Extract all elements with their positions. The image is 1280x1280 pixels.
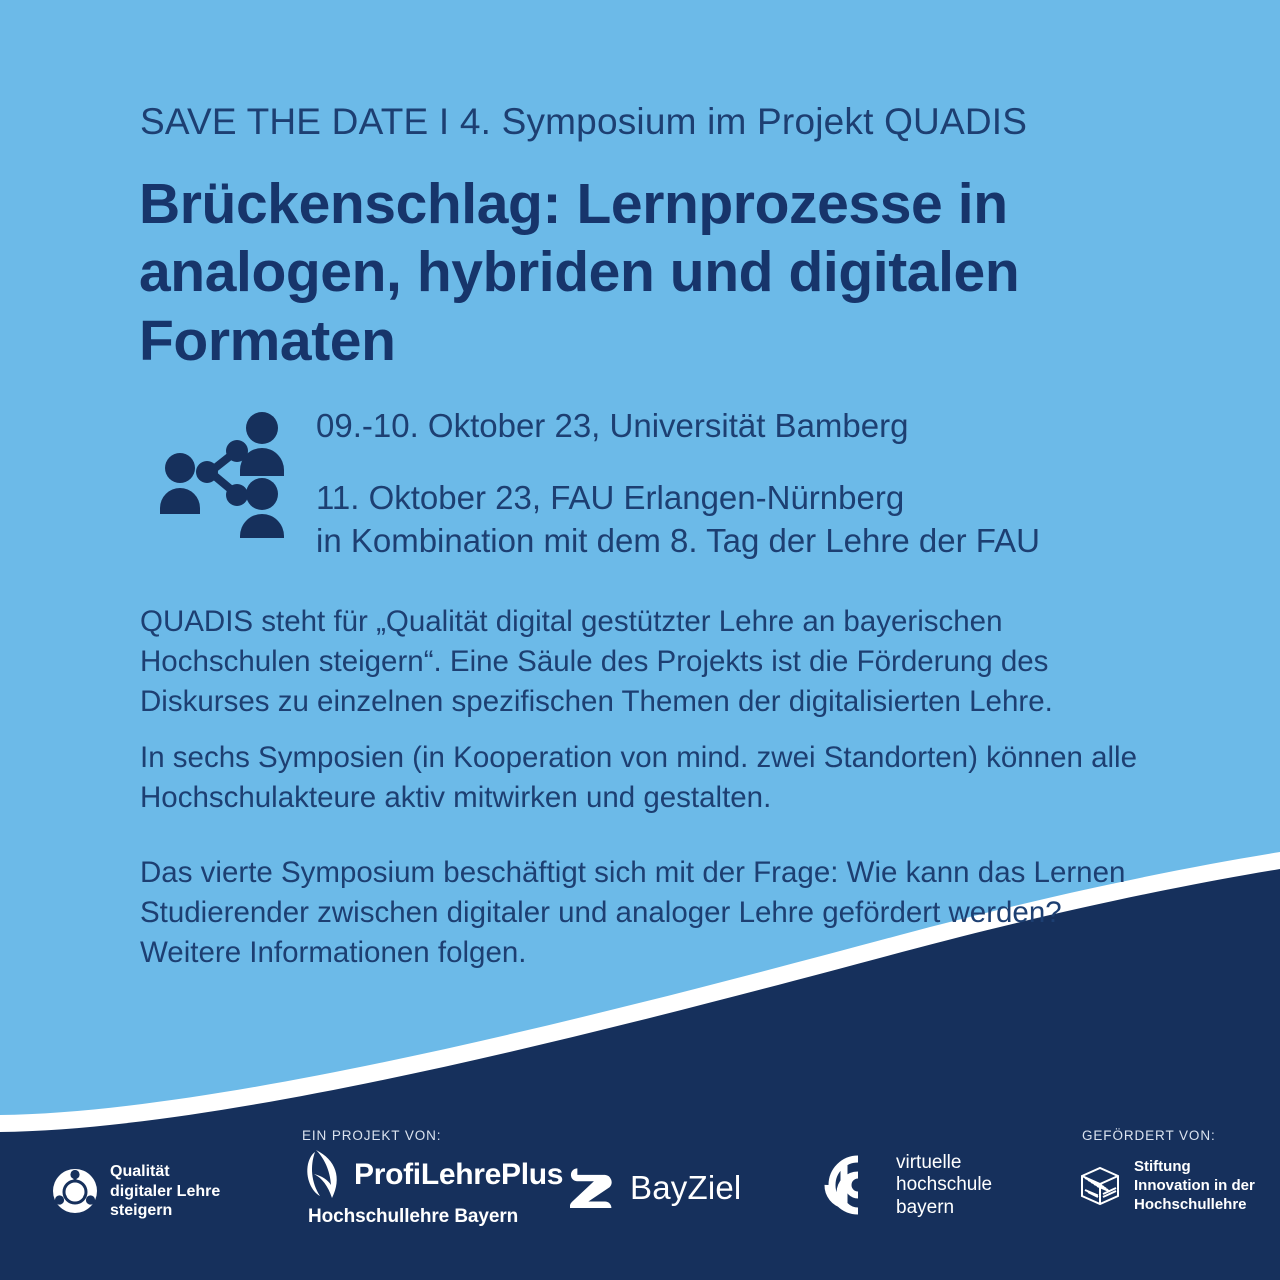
date-line-3: in Kombination mit dem 8. Tag der Lehre …	[316, 519, 1040, 563]
logo-vhb-text: virtuelle hochschule bayern	[896, 1152, 992, 1219]
logo-profilehreplus-row: ProfiLehrePlus	[302, 1148, 563, 1202]
logo-quadis-text: Qualität digitaler Lehre steigern	[110, 1162, 220, 1221]
poster-canvas: SAVE THE DATE I 4. Symposium im Projekt …	[0, 0, 1280, 1280]
logo-quadis-line-3: steigern	[110, 1201, 220, 1221]
logo-vhb-line-2: hochschule	[896, 1174, 992, 1196]
logo-vhb-line-1: virtuelle	[896, 1152, 992, 1174]
share-people-icon	[158, 406, 298, 538]
page-title: Brückenschlag: Lernprozesse in analogen,…	[139, 170, 1149, 375]
logo-bayziel-name: BayZiel	[630, 1169, 741, 1207]
label-project-by: EIN PROJEKT VON:	[302, 1128, 441, 1143]
logo-profilehreplus-name: ProfiLehrePlus	[354, 1158, 563, 1192]
logo-vhb-line-3: bayern	[896, 1197, 992, 1219]
profilehreplus-leaf-icon	[302, 1148, 346, 1202]
logo-quadis[interactable]: Qualität digitaler Lehre steigern	[52, 1162, 220, 1221]
vhb-spiral-icon	[822, 1155, 886, 1217]
footer-bar: EIN PROJEKT VON: GEFÖRDERT VON: Qualität…	[0, 1110, 1280, 1280]
body-text-group: QUADIS steht für „Qualität digital gestü…	[140, 602, 1160, 973]
logo-quadis-line-2: digitaler Lehre	[110, 1182, 220, 1202]
body-paragraph-3: Das vierte Symposium beschäftigt sich mi…	[140, 853, 1160, 973]
logo-vhb[interactable]: virtuelle hochschule bayern	[822, 1152, 992, 1219]
logo-stiftung-line-2: Innovation in der	[1134, 1177, 1255, 1196]
logo-bayziel[interactable]: BayZiel	[570, 1168, 741, 1208]
dates-block: 09.-10. Oktober 23, Universität Bamberg …	[158, 400, 1168, 563]
dates-text-group: 09.-10. Oktober 23, Universität Bamberg …	[316, 400, 1040, 563]
label-funded-by: GEFÖRDERT VON:	[1082, 1128, 1216, 1143]
logo-stiftung-text: Stiftung Innovation in der Hochschullehr…	[1134, 1158, 1255, 1215]
body-paragraph-2: In sechs Symposien (in Kooperation von m…	[140, 738, 1160, 818]
quadis-circle-network-icon	[52, 1168, 98, 1214]
stiftung-cube-icon	[1078, 1164, 1122, 1208]
date-line-1: 09.-10. Oktober 23, Universität Bamberg	[316, 404, 1040, 448]
logo-profilehreplus-subtitle: Hochschullehre Bayern	[308, 1206, 518, 1228]
logo-stiftung-line-3: Hochschullehre	[1134, 1196, 1255, 1215]
bayziel-z-icon	[570, 1168, 616, 1208]
date-line-2: 11. Oktober 23, FAU Erlangen-Nürnberg	[316, 476, 1040, 520]
logo-stiftung[interactable]: Stiftung Innovation in der Hochschullehr…	[1078, 1158, 1255, 1215]
logo-stiftung-line-1: Stiftung	[1134, 1158, 1255, 1177]
logo-profilehreplus[interactable]: ProfiLehrePlus Hochschullehre Bayern	[302, 1148, 563, 1228]
kicker-text: SAVE THE DATE I 4. Symposium im Projekt …	[140, 101, 1027, 143]
logo-quadis-line-1: Qualität	[110, 1162, 220, 1182]
body-paragraph-1: QUADIS steht für „Qualität digital gestü…	[140, 602, 1160, 722]
